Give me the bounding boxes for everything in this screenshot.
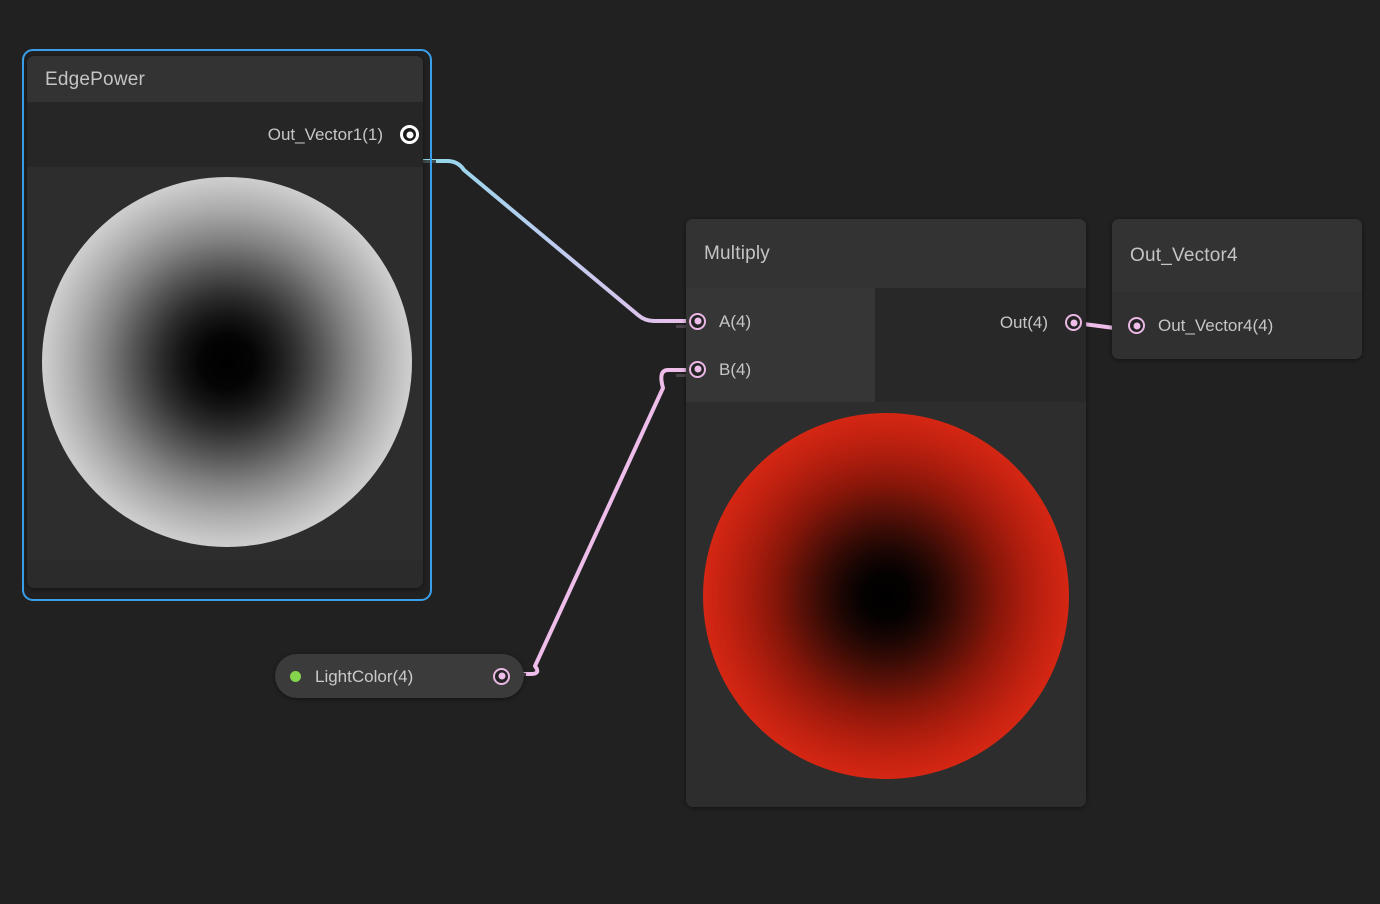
out-vector4-header[interactable]: Out_Vector4 xyxy=(1112,219,1362,292)
edgepower-header[interactable]: EdgePower xyxy=(27,56,423,102)
port-label-out-vector4-in: Out_Vector4(4) xyxy=(1158,317,1273,334)
node-out-vector4[interactable]: Out_Vector4 Out_Vector4(4) xyxy=(1112,219,1362,359)
wire-edgepower-to-multiply-a xyxy=(418,161,700,321)
edgepower-title: EdgePower xyxy=(45,70,145,89)
edgepower-port-rows: Out_Vector1(1) xyxy=(27,102,423,167)
shader-graph-canvas[interactable]: EdgePower Out_Vector1(1) Multiply A(4) xyxy=(0,0,1380,904)
port-row-b[interactable]: B(4) xyxy=(686,345,751,393)
node-multiply[interactable]: Multiply A(4) B(4) Out(4) xyxy=(686,219,1086,807)
edgepower-preview[interactable] xyxy=(27,167,423,560)
wire-lightcolor-to-multiply-b xyxy=(522,370,700,674)
port-row-a[interactable]: A(4) xyxy=(686,297,751,345)
multiply-input-column: A(4) B(4) xyxy=(686,288,875,402)
out-vector4-title: Out_Vector4 xyxy=(1130,246,1238,265)
port-dot-out-vector1[interactable] xyxy=(400,125,419,144)
port-label-a: A(4) xyxy=(719,313,751,330)
multiply-output-column: Out(4) xyxy=(875,288,1086,402)
multiply-title: Multiply xyxy=(704,244,770,263)
out-vector4-port-rows: Out_Vector4(4) xyxy=(1112,292,1362,359)
multiply-preview[interactable] xyxy=(686,402,1086,807)
port-row-out[interactable]: Out(4) xyxy=(1000,299,1086,347)
property-label-lightcolor: LightColor(4) xyxy=(315,668,413,685)
property-status-dot xyxy=(290,671,301,682)
node-edgepower[interactable]: EdgePower Out_Vector1(1) xyxy=(27,56,423,588)
port-dot-a[interactable] xyxy=(689,313,706,330)
port-row-out-vector4-in[interactable]: Out_Vector4(4) xyxy=(1112,302,1273,350)
out-vector4-input-column: Out_Vector4(4) xyxy=(1112,292,1362,359)
port-label-out-vector1: Out_Vector1(1) xyxy=(268,126,383,143)
multiply-port-rows: A(4) B(4) Out(4) xyxy=(686,288,1086,402)
port-dot-lightcolor-out[interactable] xyxy=(493,668,510,685)
edgepower-preview-sphere xyxy=(42,177,412,547)
port-dot-out[interactable] xyxy=(1065,314,1082,331)
edgepower-output-column: Out_Vector1(1) xyxy=(27,102,423,167)
multiply-header[interactable]: Multiply xyxy=(686,219,1086,288)
port-label-out: Out(4) xyxy=(1000,314,1048,331)
port-label-b: B(4) xyxy=(719,361,751,378)
port-dot-b[interactable] xyxy=(689,361,706,378)
port-row-out-vector1[interactable]: Out_Vector1(1) xyxy=(268,111,423,159)
port-dot-out-vector4-in[interactable] xyxy=(1128,317,1145,334)
multiply-preview-sphere xyxy=(703,413,1069,779)
property-node-lightcolor[interactable]: LightColor(4) xyxy=(275,654,524,698)
